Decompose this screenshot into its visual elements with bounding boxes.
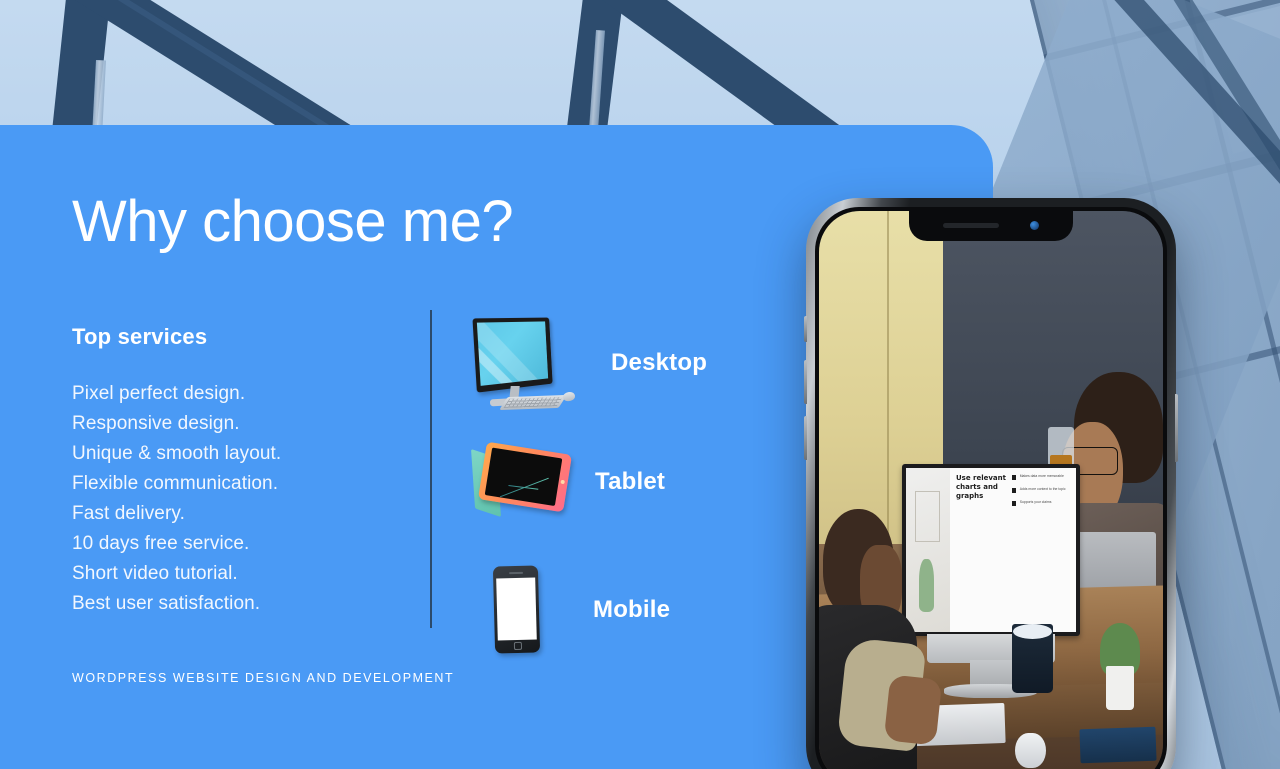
poster-canvas: Why choose me? Top services Pixel perfec… xyxy=(0,0,1280,769)
phone-mockup: Use relevant charts and graphs Makes dat… xyxy=(806,198,1176,769)
person-left-arm xyxy=(884,674,943,745)
phone-screen xyxy=(496,578,537,641)
phone-power-button[interactable] xyxy=(1175,394,1178,462)
mouse-icon xyxy=(562,391,575,402)
front-camera-icon xyxy=(1030,221,1039,230)
phone-home-button-icon xyxy=(513,642,521,650)
list-item: Flexible communication. xyxy=(72,469,281,499)
phone-volume-down-button[interactable] xyxy=(804,416,807,460)
bullet-marker-icon xyxy=(1012,501,1016,506)
list-item: Responsive design. xyxy=(72,409,281,439)
succulent-pot xyxy=(1106,666,1135,711)
slide-heading: Use relevant charts and graphs xyxy=(956,474,1012,501)
list-item: Pixel perfect design. xyxy=(72,379,281,409)
page-title: Why choose me? xyxy=(72,193,513,251)
slide-content: Use relevant charts and graphs Makes dat… xyxy=(950,468,1076,632)
succulent-plant xyxy=(1098,624,1143,710)
list-item: Unique & smooth layout. xyxy=(72,439,281,469)
monitor-bezel xyxy=(472,318,552,393)
phone-frame xyxy=(493,565,540,653)
services-list: Pixel perfect design. Responsive design.… xyxy=(72,379,281,619)
monitor-screen xyxy=(477,321,548,385)
slide-bullet: Adds more context to the topic xyxy=(1012,487,1073,493)
slide-bullets: Makes data more memorable Adds more cont… xyxy=(1012,474,1073,513)
tablet-screen xyxy=(485,448,563,507)
phone-inner-bezel: Use relevant charts and graphs Makes dat… xyxy=(815,207,1167,769)
device-label-tablet: Tablet xyxy=(595,468,665,496)
list-item: Best user satisfaction. xyxy=(72,589,281,619)
device-label-mobile: Mobile xyxy=(593,596,670,624)
list-item: Fast delivery. xyxy=(72,499,281,529)
slide-bullet: Supports your claims xyxy=(1012,500,1073,506)
list-item: Short video tutorial. xyxy=(72,559,281,589)
vertical-divider xyxy=(430,310,432,628)
tablet-icon xyxy=(470,442,565,522)
notebook xyxy=(1080,726,1157,763)
phone-speaker-icon xyxy=(509,572,523,574)
imac-screen: Use relevant charts and graphs Makes dat… xyxy=(906,468,1077,632)
office-scene-photo: Use relevant charts and graphs Makes dat… xyxy=(819,211,1163,769)
device-row-mobile[interactable]: Mobile xyxy=(470,562,670,657)
slide-bullet: Makes data more memorable xyxy=(1012,474,1073,480)
desk-mouse xyxy=(1015,733,1046,767)
smartphone-icon xyxy=(470,562,565,657)
desktop-monitor-icon xyxy=(470,318,575,408)
bullet-marker-icon xyxy=(1012,475,1016,480)
phone-notch xyxy=(909,211,1073,241)
coffee-mug xyxy=(1012,624,1053,693)
device-label-desktop: Desktop xyxy=(611,349,707,377)
list-item: 10 days free service. xyxy=(72,529,281,559)
phone-mockup-screen: Use relevant charts and graphs Makes dat… xyxy=(819,211,1163,769)
device-row-desktop[interactable]: Desktop xyxy=(470,318,707,408)
tablet-camera-icon xyxy=(560,480,565,485)
earpiece-speaker-icon xyxy=(943,223,999,228)
device-row-tablet[interactable]: Tablet xyxy=(470,442,665,522)
bullet-marker-icon xyxy=(1012,488,1016,493)
keyboard-icon xyxy=(499,395,567,410)
phone-mute-switch[interactable] xyxy=(804,316,807,342)
footer-caption: WORDPRESS WEBSITE DESIGN AND DEVELOPMENT xyxy=(72,671,454,685)
top-services-heading: Top services xyxy=(72,324,207,350)
person-left xyxy=(819,509,929,769)
phone-volume-up-button[interactable] xyxy=(804,360,807,404)
